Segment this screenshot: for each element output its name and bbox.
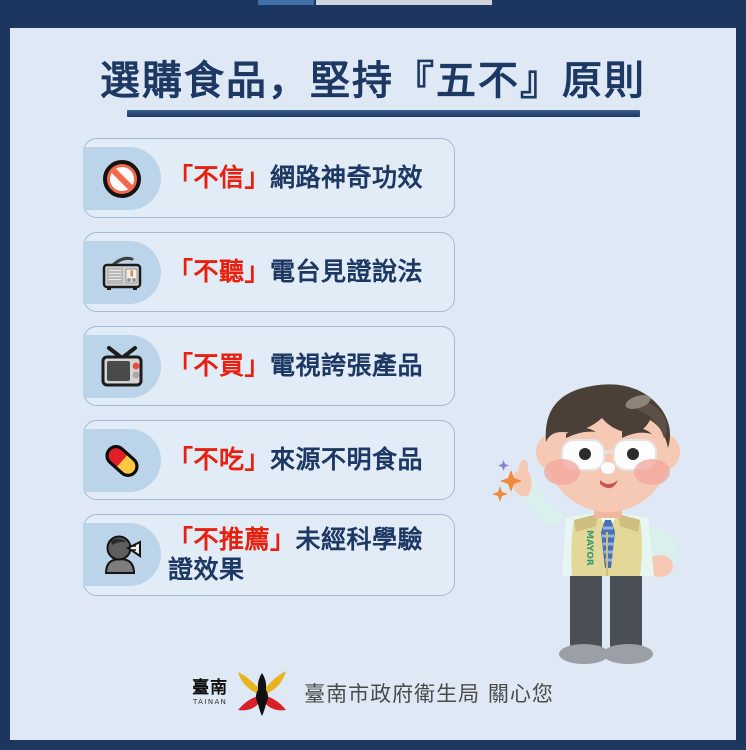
poster-root: 選購食品，堅持『五不』原則	[0, 0, 746, 750]
poster-frame: 選購食品，堅持『五不』原則	[10, 28, 736, 740]
principle-keyword-4: 「不吃」	[168, 445, 270, 474]
tainan-logo: 臺南 TAINAN	[192, 668, 290, 718]
mayor-mascot-illustration: MAYOR	[492, 376, 724, 676]
browser-tab-active	[258, 0, 314, 5]
principle-text-1: 「不信」網路神奇功效	[168, 139, 446, 217]
tainan-logo-roman: TAINAN	[193, 699, 227, 706]
speaking-person-icon	[99, 533, 145, 577]
icon-badge-5	[83, 523, 161, 586]
principle-keyword-5: 「不推薦」	[168, 525, 296, 554]
footer: 臺南 TAINAN 臺南市政府衛生局 關心您	[10, 668, 736, 718]
icon-badge-1	[83, 147, 161, 210]
principle-keyword-3: 「不買」	[168, 351, 270, 380]
principle-row-3[interactable]: 「不買」電視誇張產品	[83, 326, 455, 406]
principle-rest-4: 來源不明食品	[270, 445, 423, 474]
television-icon	[99, 345, 145, 389]
capsule-pill-icon	[98, 439, 146, 483]
principle-row-4[interactable]: 「不吃」來源不明食品	[83, 420, 455, 500]
vest-label: MAYOR	[584, 530, 594, 566]
principle-row-1[interactable]: 「不信」網路神奇功效	[83, 138, 455, 218]
principle-rest-1: 網路神奇功效	[270, 163, 423, 192]
page-title: 選購食品，堅持『五不』原則	[10, 48, 736, 106]
principle-keyword-2: 「不聽」	[168, 257, 270, 286]
footer-text: 臺南市政府衛生局 關心您	[304, 678, 554, 708]
tainan-logo-han: 臺南	[192, 680, 228, 697]
principle-text-2: 「不聽」電台見證說法	[168, 233, 446, 311]
radio-icon	[98, 251, 146, 295]
icon-badge-2	[83, 241, 161, 304]
principle-keyword-1: 「不信」	[168, 163, 270, 192]
prohibition-sign-icon	[100, 157, 144, 201]
tainan-logo-calligraphy: 臺南 TAINAN	[192, 680, 228, 706]
icon-badge-4	[83, 429, 161, 492]
browser-tab-inactive	[316, 0, 492, 5]
principle-rest-2: 電台見證說法	[270, 257, 423, 286]
principle-text-4: 「不吃」來源不明食品	[168, 421, 446, 499]
principle-text-5: 「不推薦」未經科學驗證效果	[168, 515, 446, 595]
title-underline-rule	[127, 110, 640, 117]
browser-tab-strip	[258, 0, 492, 7]
principle-row-5[interactable]: 「不推薦」未經科學驗證效果	[83, 514, 455, 596]
icon-badge-3	[83, 335, 161, 398]
principle-rest-3: 電視誇張產品	[270, 351, 423, 380]
principle-row-2[interactable]: 「不聽」電台見證說法	[83, 232, 455, 312]
principles-list: 「不信」網路神奇功效	[83, 138, 463, 610]
principle-text-3: 「不買」電視誇張產品	[168, 327, 446, 405]
tainan-phoenix-logo	[232, 668, 290, 718]
